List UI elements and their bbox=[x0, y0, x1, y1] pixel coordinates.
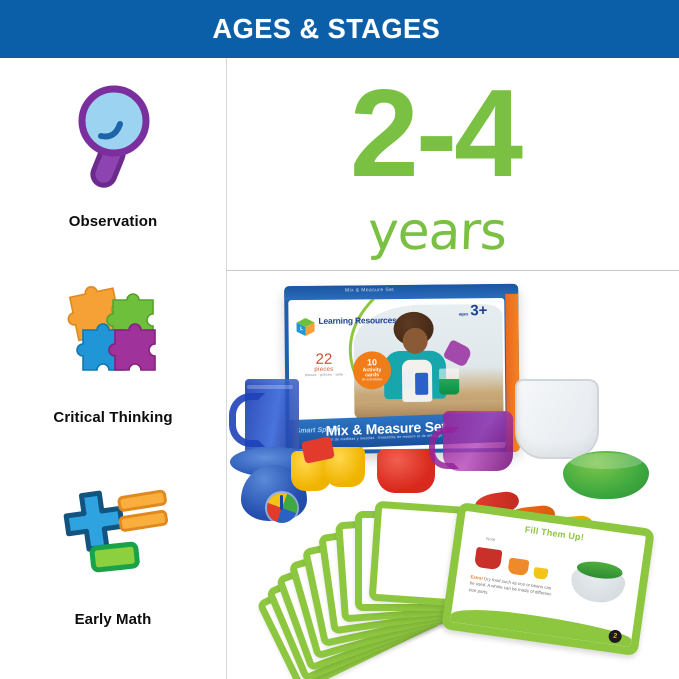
box-piece-count: 22 pieces piezas · pièces · teile bbox=[303, 352, 345, 377]
activity-card-footer: 2 bbox=[450, 604, 633, 647]
learning-resources-cube-icon: L bbox=[295, 317, 315, 337]
card-bowl-icon bbox=[569, 562, 627, 605]
yellow-measuring-cups bbox=[291, 443, 375, 495]
activity-card-title: Fill Them Up! bbox=[464, 516, 646, 551]
box-piece-count-sub: piezas · pièces · teile bbox=[303, 373, 345, 377]
magnifying-glass-icon bbox=[53, 80, 173, 198]
age-range-unit: years bbox=[210, 206, 664, 258]
red-measuring-cup bbox=[377, 449, 435, 493]
activity-badge-line3: de actividades bbox=[362, 379, 382, 383]
activity-cards-fan: Fill Them Up! Note Extra! Dry food such … bbox=[267, 503, 647, 663]
clear-measuring-cup bbox=[515, 379, 599, 459]
card-orange-cup-icon bbox=[507, 557, 529, 576]
page-header-banner: AGES & STAGES bbox=[0, 0, 679, 58]
box-age-value: 3+ bbox=[470, 303, 487, 318]
skills-rail: Observation bbox=[0, 58, 226, 679]
skill-item-observation: Observation bbox=[0, 80, 226, 232]
skill-label-critical-thinking: Critical Thinking bbox=[53, 408, 172, 428]
activity-card-front: Fill Them Up! Note Extra! Dry food such … bbox=[441, 502, 655, 656]
skill-item-critical-thinking: Critical Thinking bbox=[0, 276, 226, 428]
box-activity-cards-badge: 10 Activity cards de actividades bbox=[353, 351, 391, 389]
age-range-panel: 2-4 years bbox=[227, 58, 679, 270]
box-brand-name: Learning Resources bbox=[318, 315, 396, 326]
skill-label-early-math: Early Math bbox=[75, 610, 152, 630]
card-red-cup-icon bbox=[474, 547, 503, 570]
activity-card-number: 2 bbox=[608, 629, 623, 644]
purple-measuring-cup bbox=[443, 411, 513, 471]
math-symbols-icon bbox=[53, 478, 173, 596]
skill-item-early-math: Early Math bbox=[0, 478, 226, 630]
green-bowl bbox=[563, 451, 649, 499]
box-age-label: ages bbox=[459, 312, 469, 317]
product-photo: Mix & Measure Set bbox=[227, 271, 679, 679]
age-range-value: 2-4 bbox=[209, 72, 661, 196]
svg-text:L: L bbox=[300, 326, 303, 332]
box-top-strip-text: Mix & Measure Set bbox=[345, 287, 394, 294]
box-age-badge: ages 3+ bbox=[459, 303, 488, 318]
puzzle-pieces-icon bbox=[53, 276, 173, 394]
activity-card-note-label: Note bbox=[486, 536, 496, 542]
skill-label-observation: Observation bbox=[69, 212, 158, 232]
ages-and-stages-infographic: AGES & STAGES Observation bbox=[0, 0, 679, 679]
card-yellow-cup-icon bbox=[533, 567, 548, 580]
box-piece-count-number: 22 bbox=[303, 352, 345, 367]
page-title: AGES & STAGES bbox=[213, 15, 441, 43]
box-brand-line: Learning Resources bbox=[318, 315, 396, 326]
